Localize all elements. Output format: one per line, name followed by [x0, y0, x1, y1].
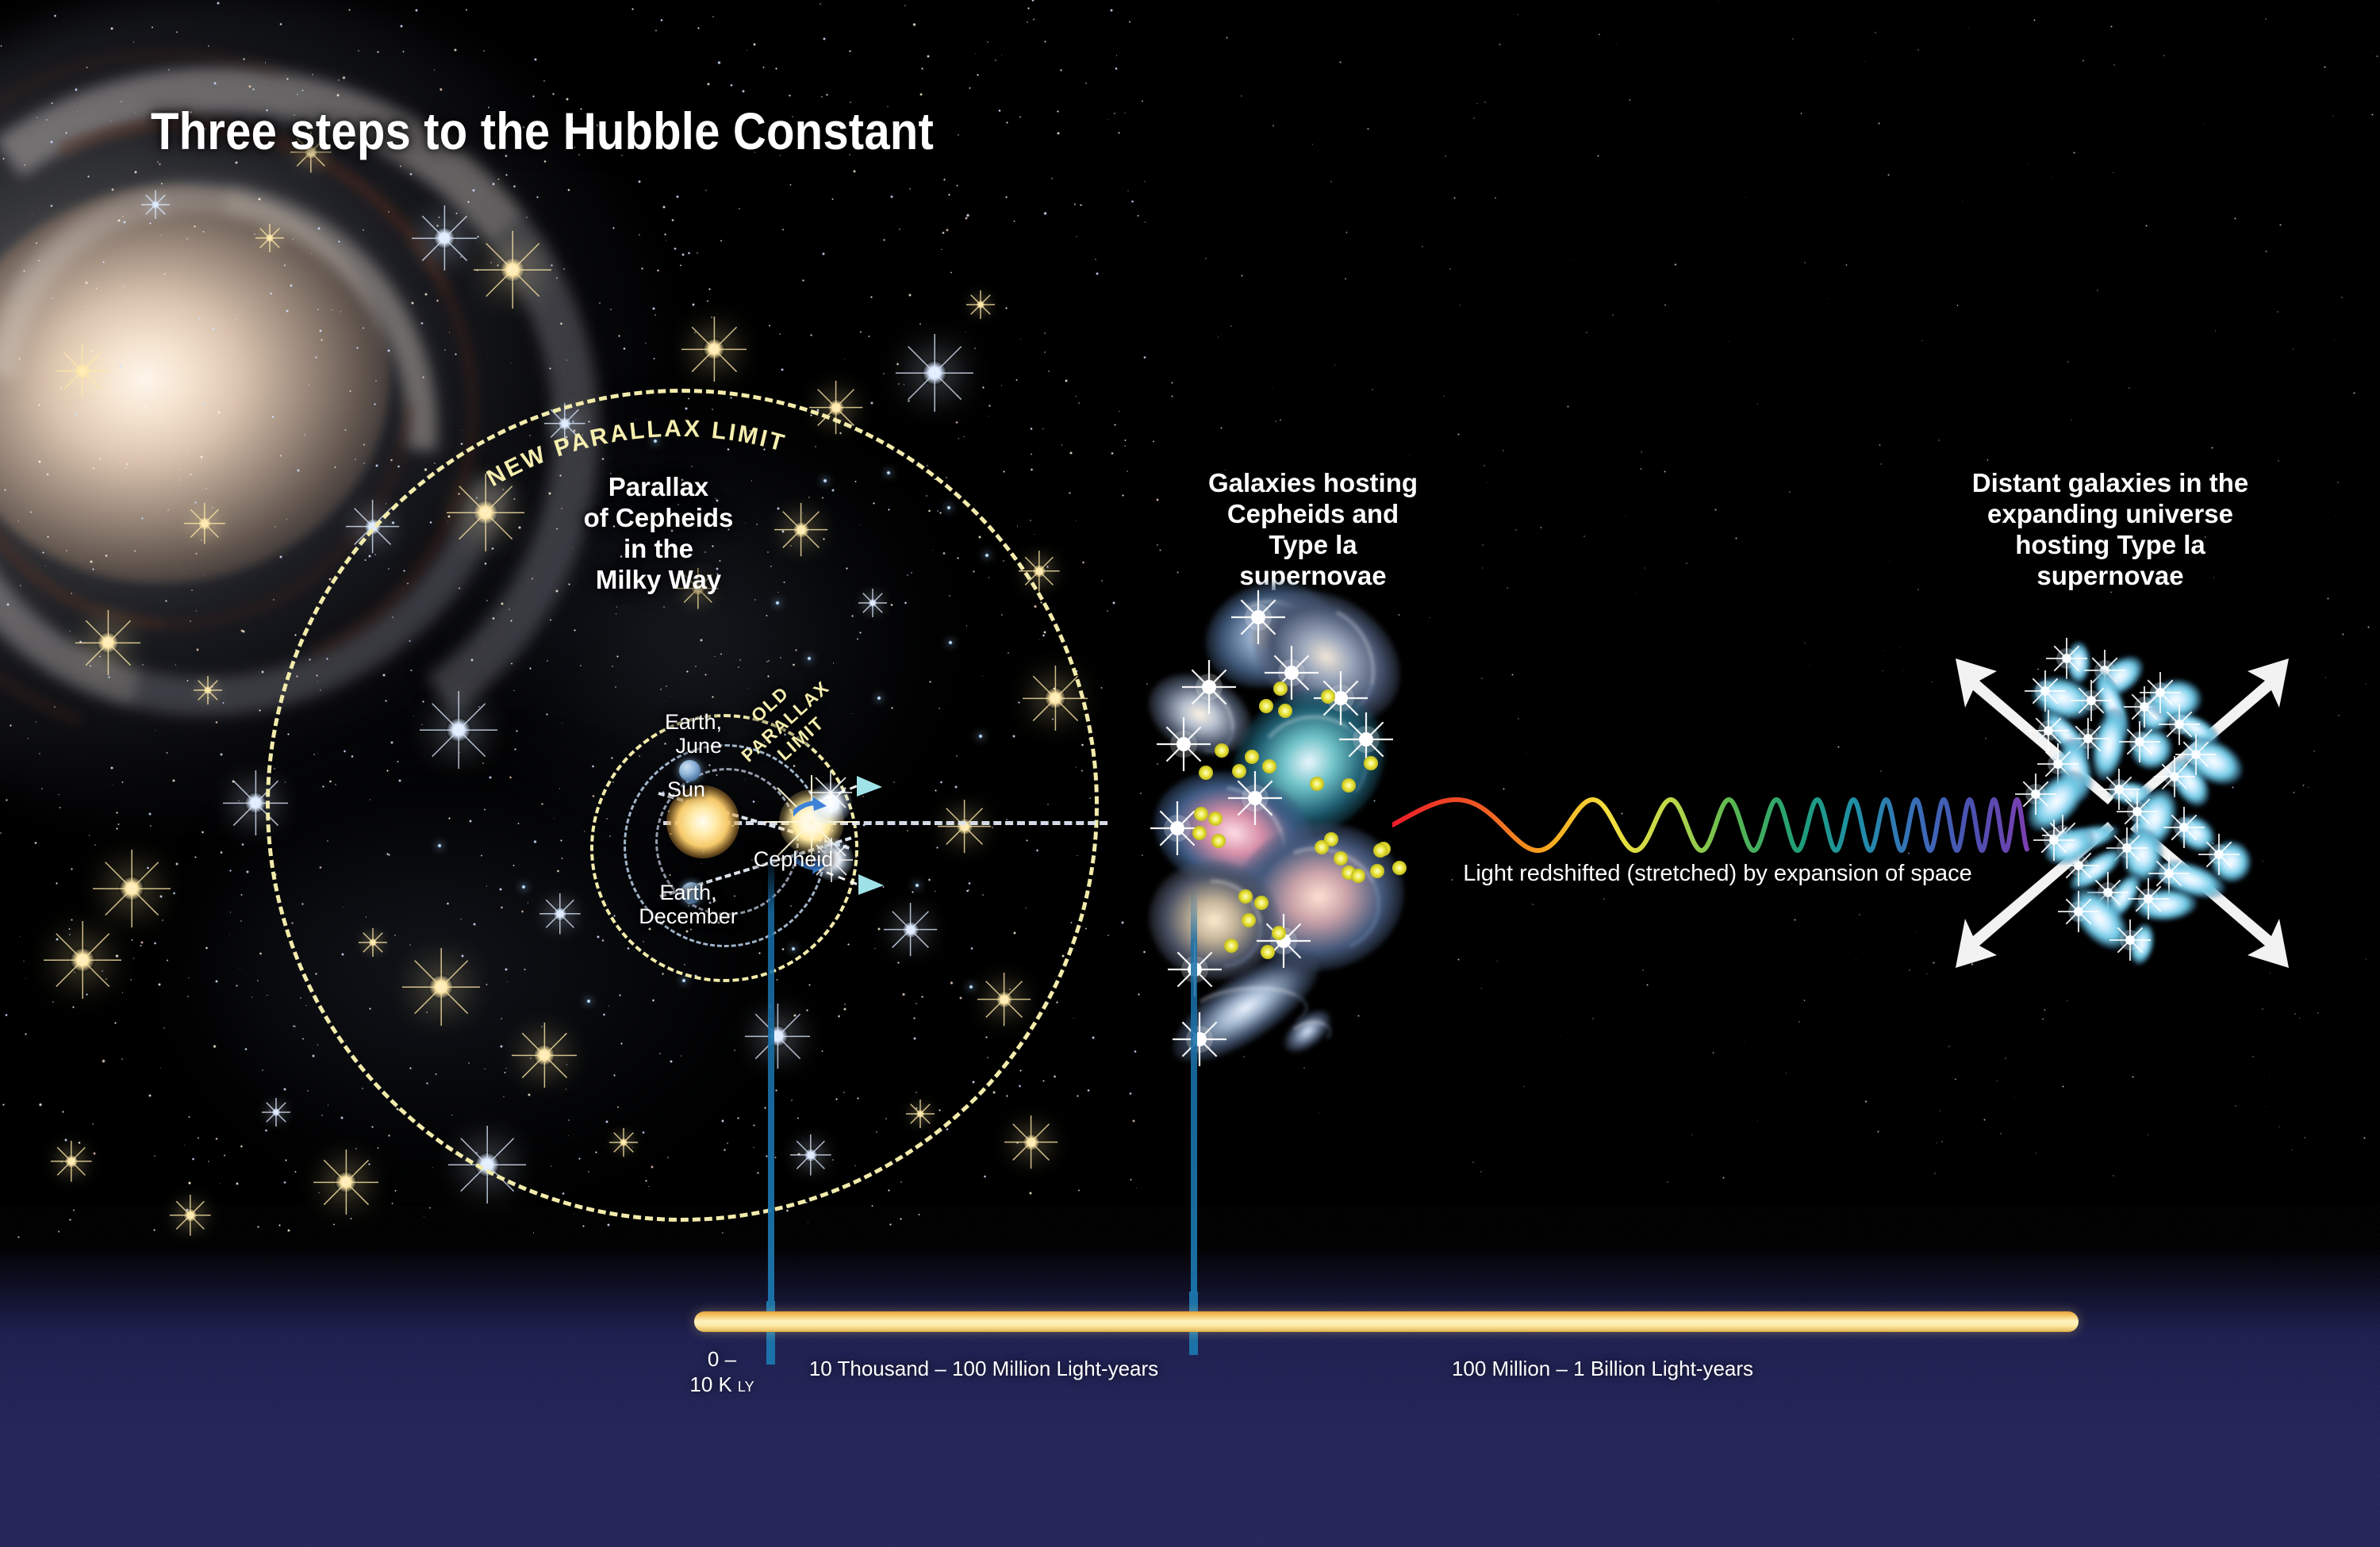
type-ia-supernova — [1171, 1011, 1228, 1068]
cepheid-variable-marker — [1262, 759, 1276, 773]
type-ia-supernova — [1255, 912, 1312, 969]
type-ia-supernova — [1226, 770, 1284, 827]
earth-december-line-2: December — [607, 904, 770, 928]
cepheid-variable-marker — [1245, 750, 1259, 764]
galaxy-supernova-flare — [2126, 877, 2171, 921]
distance-scale-bar — [694, 1311, 2079, 1332]
cepheid-variable-marker — [1364, 756, 1378, 770]
page-title: Three steps to the Hubble Constant — [151, 105, 934, 157]
type-ia-supernova — [1155, 716, 1212, 773]
infographic-canvas: Three steps to the Hubble Constant NEW P… — [0, 0, 2380, 1547]
step1-heading-line-4: Milky Way — [539, 565, 777, 596]
scale-segment-2-label: 100 Million – 1 Billion Light-years — [1285, 1357, 1920, 1381]
galaxy-supernova-flare — [2013, 772, 2058, 816]
galaxy-supernova-flare — [2174, 732, 2218, 777]
cepheid-variable-marker — [1242, 913, 1256, 927]
cepheid-variable-marker — [1373, 843, 1388, 858]
scale-segment-2-text: 100 Million – 1 Billion Light-years — [1452, 1357, 1753, 1380]
cepheid-variable-marker — [1192, 826, 1207, 840]
cepheid-variable-marker — [1370, 864, 1384, 878]
cepheid-variable-marker — [1224, 939, 1238, 953]
step3-heading-line-2: expanding universe — [1940, 499, 2281, 530]
step2-heading-line-2: Cepheids and — [1154, 499, 1472, 530]
cepheid-variable-marker — [1208, 812, 1223, 826]
cepheid-variable-marker — [1254, 896, 1269, 910]
cepheid-variable-marker — [1259, 699, 1273, 713]
scale-tick-line-2 — [1191, 889, 1197, 1353]
cepheid-label: Cepheid — [714, 847, 873, 871]
step1-heading: Parallax of Cepheids in the Milky Way — [539, 472, 777, 596]
scale-tick-line-1 — [768, 853, 774, 1353]
cepheid-variable-marker — [1261, 945, 1275, 959]
step3-heading-line-4: supernovae — [1940, 561, 2281, 592]
earth-december-label: Earth, December — [607, 881, 770, 928]
type-ia-supernova — [1180, 658, 1238, 716]
cepheid-variable-marker — [1321, 689, 1335, 704]
cepheid-variable-marker — [1215, 743, 1229, 758]
cepheid-variable-marker — [1194, 807, 1208, 821]
scale-label-origin: 0 – 10 KLY — [670, 1347, 773, 1397]
scale-origin-unit: LY — [738, 1379, 754, 1395]
step2-heading: Galaxies hosting Cepheids and Type la su… — [1154, 468, 1472, 592]
cepheid-variable-marker — [1342, 778, 1356, 793]
cepheid-variable-marker — [1351, 869, 1365, 883]
type-ia-supernova — [1230, 589, 1287, 646]
step3-heading-line-1: Distant galaxies in the — [1940, 468, 2281, 499]
cepheid-variable-marker — [1238, 889, 1253, 904]
earth-june-label: Earth, June — [603, 710, 722, 758]
cepheid-variable-marker — [1334, 851, 1348, 866]
cepheid-variable-marker — [1199, 766, 1213, 780]
cepheid-variable-marker — [1278, 704, 1292, 718]
step3-heading: Distant galaxies in the expanding univer… — [1940, 468, 2281, 592]
scale-segment-1-text: 10 Thousand – 100 Million Light-years — [809, 1357, 1158, 1380]
scale-origin-line-1: 0 – — [670, 1347, 773, 1372]
step2-heading-line-3: Type la — [1154, 530, 1472, 561]
redshift-caption-text: Light redshifted (stretched) by expansio… — [1463, 861, 1972, 886]
galaxy-supernova-flare — [2032, 818, 2076, 862]
cepheid-variable-marker — [1232, 764, 1246, 778]
cepheid-label-text: Cepheid — [754, 847, 834, 871]
parallax-shift-arrows — [793, 762, 936, 912]
cepheid-variable-marker — [1310, 777, 1324, 791]
floor-noise-texture — [0, 1206, 2380, 1547]
scale-origin-value: 10 K — [689, 1372, 732, 1396]
scale-origin-line-2: 10 KLY — [670, 1372, 773, 1398]
step1-heading-line-2: of Cepheids — [539, 503, 777, 534]
cepheid-variable-marker — [1315, 840, 1329, 854]
earth-june-line-1: Earth, — [603, 710, 722, 734]
earth-december-line-1: Earth, — [607, 881, 770, 904]
scale-segment-1-label: 10 Thousand – 100 Million Light-years — [793, 1357, 1174, 1381]
sun-label-text: Sun — [667, 777, 705, 801]
galaxy-supernova-flare — [2056, 889, 2101, 934]
step3-heading-line-3: hosting Type la — [1940, 530, 2281, 561]
galaxy-supernova-flare — [2108, 918, 2152, 962]
cepheid-variable-marker — [1211, 834, 1226, 848]
galaxy-supernova-flare — [2197, 832, 2241, 877]
earth-june-line-2: June — [603, 734, 722, 758]
step1-heading-line-3: in the — [539, 534, 777, 565]
cepheid-variable-marker — [1273, 681, 1288, 696]
sun-label: Sun — [643, 777, 730, 801]
step1-heading-line-1: Parallax — [539, 472, 777, 503]
step2-heading-line-1: Galaxies hosting — [1154, 468, 1472, 499]
cepheid-variable-marker — [1272, 926, 1286, 940]
step2-heading-line-4: supernovae — [1154, 561, 1472, 592]
galaxy-supernova-flare — [2023, 669, 2067, 713]
